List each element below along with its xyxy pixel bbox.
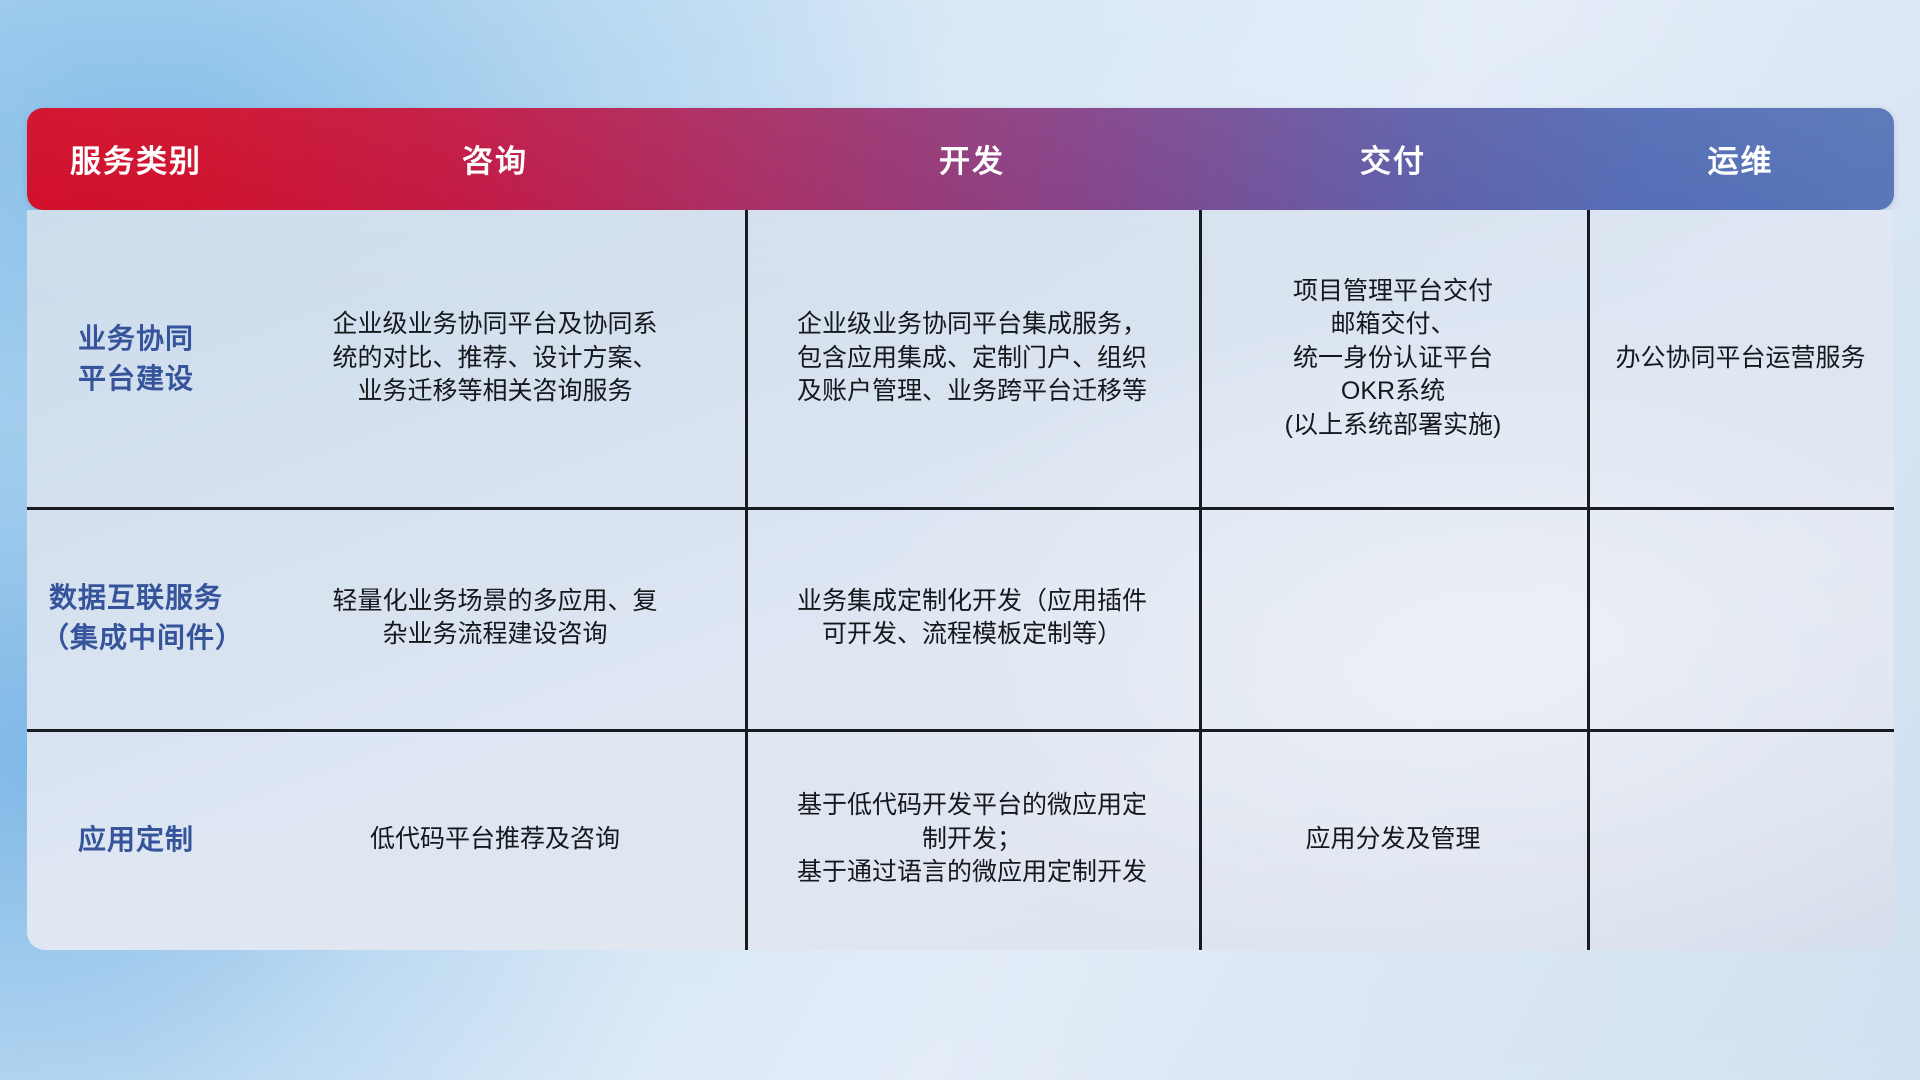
header-cell-consulting: 咨询 <box>245 142 745 177</box>
column-divider-1 <box>745 210 748 950</box>
header-cell-development: 开发 <box>745 142 1199 177</box>
row-operations-cell <box>1587 507 1894 729</box>
row-development-cell: 业务集成定制化开发（应用插件 可开发、流程模板定制等） <box>745 507 1199 729</box>
row-consulting-text: 低代码平台推荐及咨询 <box>370 823 620 857</box>
row-consulting-text: 轻量化业务场景的多应用、复 杂业务流程建设咨询 <box>332 585 657 652</box>
row-consulting-cell: 轻量化业务场景的多应用、复 杂业务流程建设咨询 <box>245 507 745 729</box>
row-category-label: 业务协同 平台建设 <box>78 319 194 399</box>
row-consulting-cell: 低代码平台推荐及咨询 <box>245 729 745 950</box>
row-consulting-cell: 企业级业务协同平台及协同系 统的对比、推荐、设计方案、 业务迁移等相关咨询服务 <box>245 210 745 507</box>
table-row: 应用定制 低代码平台推荐及咨询 基于低代码开发平台的微应用定 制开发； 基于通过… <box>27 729 1894 950</box>
row-delivery-text: 项目管理平台交付 邮箱交付、 统一身份认证平台 OKR系统 (以上系统部署实施) <box>1285 275 1502 443</box>
table-body: 业务协同 平台建设 企业级业务协同平台及协同系 统的对比、推荐、设计方案、 业务… <box>27 210 1894 950</box>
row-operations-text: 办公协同平台运营服务 <box>1615 342 1865 376</box>
header-cell-operations: 运维 <box>1587 142 1894 177</box>
column-divider-2 <box>1199 210 1202 950</box>
column-divider-3 <box>1587 210 1590 950</box>
row-category-label: 数据互联服务 （集成中间件） <box>41 578 231 658</box>
slide-canvas: 服务类别 咨询 开发 交付 运维 业务协同 平台建设 企业级业务协同平台及协同系… <box>0 0 1920 1080</box>
row-development-text: 业务集成定制化开发（应用插件 可开发、流程模板定制等） <box>797 585 1147 652</box>
row-category-label: 应用定制 <box>78 820 194 860</box>
row-divider-2 <box>27 729 1894 732</box>
row-category-cell: 数据互联服务 （集成中间件） <box>27 507 245 729</box>
table-row: 业务协同 平台建设 企业级业务协同平台及协同系 统的对比、推荐、设计方案、 业务… <box>27 210 1894 507</box>
row-delivery-cell: 应用分发及管理 <box>1199 729 1587 950</box>
row-development-cell: 企业级业务协同平台集成服务， 包含应用集成、定制门户、组织 及账户管理、业务跨平… <box>745 210 1199 507</box>
header-cell-service-category: 服务类别 <box>27 142 245 177</box>
row-development-text: 基于低代码开发平台的微应用定 制开发； 基于通过语言的微应用定制开发 <box>797 789 1147 890</box>
table-header-row: 服务类别 咨询 开发 交付 运维 <box>27 108 1894 210</box>
row-delivery-cell <box>1199 507 1587 729</box>
row-development-text: 企业级业务协同平台集成服务， 包含应用集成、定制门户、组织 及账户管理、业务跨平… <box>797 308 1147 409</box>
header-cell-delivery: 交付 <box>1199 142 1587 177</box>
service-matrix-table: 服务类别 咨询 开发 交付 运维 业务协同 平台建设 企业级业务协同平台及协同系… <box>27 108 1894 950</box>
row-consulting-text: 企业级业务协同平台及协同系 统的对比、推荐、设计方案、 业务迁移等相关咨询服务 <box>332 308 657 409</box>
row-operations-cell <box>1587 729 1894 950</box>
row-development-cell: 基于低代码开发平台的微应用定 制开发； 基于通过语言的微应用定制开发 <box>745 729 1199 950</box>
table-row: 数据互联服务 （集成中间件） 轻量化业务场景的多应用、复 杂业务流程建设咨询 业… <box>27 507 1894 729</box>
row-operations-cell: 办公协同平台运营服务 <box>1587 210 1894 507</box>
row-category-cell: 业务协同 平台建设 <box>27 210 245 507</box>
row-category-cell: 应用定制 <box>27 729 245 950</box>
row-divider-1 <box>27 507 1894 510</box>
row-delivery-text: 应用分发及管理 <box>1305 823 1480 857</box>
row-delivery-cell: 项目管理平台交付 邮箱交付、 统一身份认证平台 OKR系统 (以上系统部署实施) <box>1199 210 1587 507</box>
